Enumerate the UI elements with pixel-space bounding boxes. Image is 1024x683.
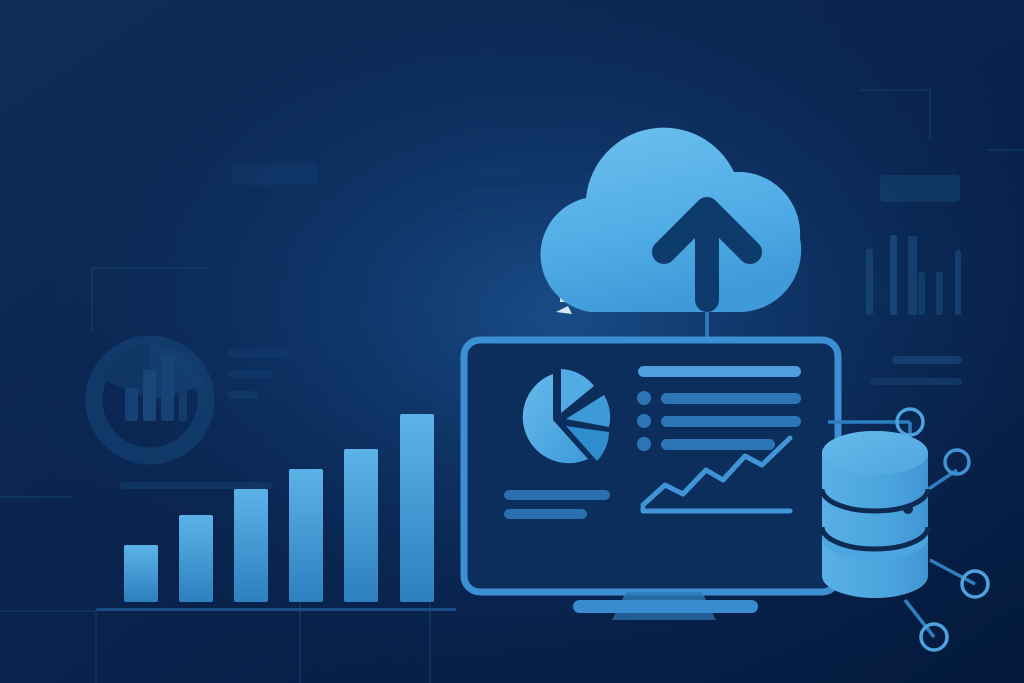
database-cylinder <box>822 431 928 598</box>
dashboard-monitor <box>464 340 838 620</box>
bar-2 <box>179 515 213 602</box>
bar-5 <box>344 449 378 602</box>
list-row-3 <box>661 439 775 450</box>
bar-6 <box>400 414 434 602</box>
caption-bar-1 <box>504 490 610 500</box>
bar-3 <box>234 489 268 602</box>
database-indicator-dot <box>903 504 913 514</box>
illustration-layer <box>0 0 1024 683</box>
list-header-bar <box>638 366 801 377</box>
list-bullet-1 <box>637 391 651 405</box>
list-row-2 <box>661 416 801 427</box>
poster-root: 2025年最新数据治理平 台靠谱吗？ 企业数字化转型必备工具 <box>0 0 1024 683</box>
bar-chart-baseline <box>96 608 456 611</box>
bar-4 <box>289 469 323 602</box>
caption-bar-2 <box>504 509 587 519</box>
database-top-disk <box>822 431 928 475</box>
list-row-1 <box>661 393 801 404</box>
monitor-base <box>573 600 758 613</box>
bar-1 <box>124 545 158 602</box>
list-bullet-3 <box>637 437 651 451</box>
bar-chart <box>96 414 456 611</box>
cloud-upload-icon <box>541 128 802 344</box>
list-bullet-2 <box>637 414 651 428</box>
